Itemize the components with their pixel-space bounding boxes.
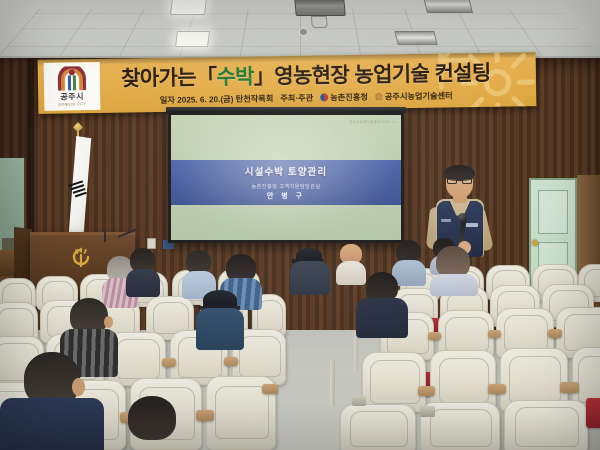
seat-armrest	[488, 384, 506, 394]
banner-host-label: 주최·주관	[280, 91, 313, 104]
gongju-emblem-icon	[375, 92, 383, 100]
attendee-torso	[0, 398, 104, 450]
projection-screen-frame: 공주시농업기술센터 2025. 6. 시설수박 토양관리 농촌진흥청 고객지원담…	[168, 112, 404, 243]
seat-base	[352, 396, 366, 406]
seat-leg	[354, 332, 358, 370]
ceiling-fluorescent-icon	[423, 0, 473, 13]
attendee-torso	[430, 274, 478, 296]
attendee-head	[128, 396, 176, 440]
attendee	[356, 272, 408, 334]
banner-org-gongju: 공주시농업기술센터	[375, 89, 453, 102]
gongju-city-emblem-icon	[70, 247, 92, 269]
logo-name-ko: 공주시	[60, 91, 84, 102]
door-knob-icon[interactable]	[532, 240, 538, 246]
attendee-ear	[104, 316, 113, 328]
gongju-city-logo: 공주시 GONGJU CITY	[44, 62, 101, 111]
auditorium-photo: 공주시 GONGJU CITY 찾아가는 「 수박 」 영농현장 농업기술 컨설…	[0, 0, 600, 450]
slide-title-band: 시설수박 토양관리 농촌진흥청 고객지원담당관실 안 병 구	[171, 160, 401, 205]
attendee-ear	[72, 378, 85, 396]
seat-armrest	[162, 358, 176, 367]
seat-armrest	[262, 384, 278, 394]
banner-title-bracket-open: 「	[196, 61, 217, 91]
speaker-vest-badge	[441, 219, 451, 222]
banner-org2-label: 공주시농업기술센터	[385, 89, 453, 102]
attendee	[432, 246, 476, 290]
seat-armrest	[224, 357, 238, 366]
attendee	[10, 352, 94, 450]
ceiling-light-icon	[170, 0, 207, 15]
seat-base	[420, 406, 435, 417]
seat-armrest	[428, 332, 441, 340]
seat-leg	[330, 360, 335, 406]
slide-organization: 농촌진흥청 고객지원담당관실	[251, 183, 320, 190]
ceiling-fluorescent-icon	[394, 31, 437, 45]
event-banner: 공주시 GONGJU CITY 찾아가는 「 수박 」 영농현장 농업기술 컨설…	[38, 52, 537, 114]
banner-subtitle-date: 일자 2025. 6. 20.(금) 탄천작목회	[160, 92, 274, 106]
logo-name-en: GONGJU CITY	[58, 102, 86, 106]
seat-armrest	[488, 330, 501, 338]
ceiling-light-icon	[175, 31, 210, 47]
seat-armrest	[560, 382, 579, 393]
speaker-glasses-icon	[447, 178, 472, 184]
banner-subtitle-host: 주최·주관	[280, 91, 313, 104]
banner-title-keyword: 수박	[216, 61, 254, 92]
seat-cushion	[586, 398, 600, 428]
banner-org1-label: 농촌진흥청	[330, 90, 368, 103]
attendee-torso	[126, 269, 160, 297]
ceiling-projector-icon	[294, 0, 346, 16]
baseball-cap-icon	[203, 290, 237, 310]
seat-armrest	[196, 410, 214, 421]
banner-title-part-2: 영농현장 농업기술 컨설팅	[274, 57, 491, 90]
seat[interactable]	[504, 400, 588, 450]
door-panel	[538, 190, 568, 234]
seat[interactable]	[362, 352, 426, 412]
banner-title-part-1: 찾아가는	[121, 61, 196, 92]
projector-lens-icon	[300, 29, 307, 35]
attendee-torso	[356, 298, 408, 338]
projection-screen: 공주시농업기술센터 2025. 6. 시설수박 토양관리 농촌진흥청 고객지원담…	[171, 115, 401, 240]
attendee-torso	[196, 308, 244, 350]
gongju-arch-icon	[55, 66, 89, 91]
attendee	[196, 290, 244, 348]
slide-presenter-name: 안 병 구	[267, 191, 305, 201]
seat-armrest	[548, 329, 562, 338]
rda-emblem-icon	[320, 93, 328, 101]
podium-mic-stand	[104, 230, 106, 242]
slide-title: 시설수박 토양관리	[245, 164, 327, 178]
seat[interactable]	[340, 404, 416, 450]
attendee	[126, 248, 160, 294]
attendee	[290, 248, 330, 294]
seat-armrest	[418, 386, 435, 396]
attendee	[120, 396, 194, 450]
microphone-head-icon	[458, 213, 467, 222]
banner-org-rda: 농촌진흥청	[320, 90, 368, 103]
attendee-torso	[290, 261, 330, 295]
slide-corner-note: 공주시농업기술센터 2025. 6.	[349, 119, 396, 124]
banner-title-bracket-close: 」	[254, 60, 275, 90]
